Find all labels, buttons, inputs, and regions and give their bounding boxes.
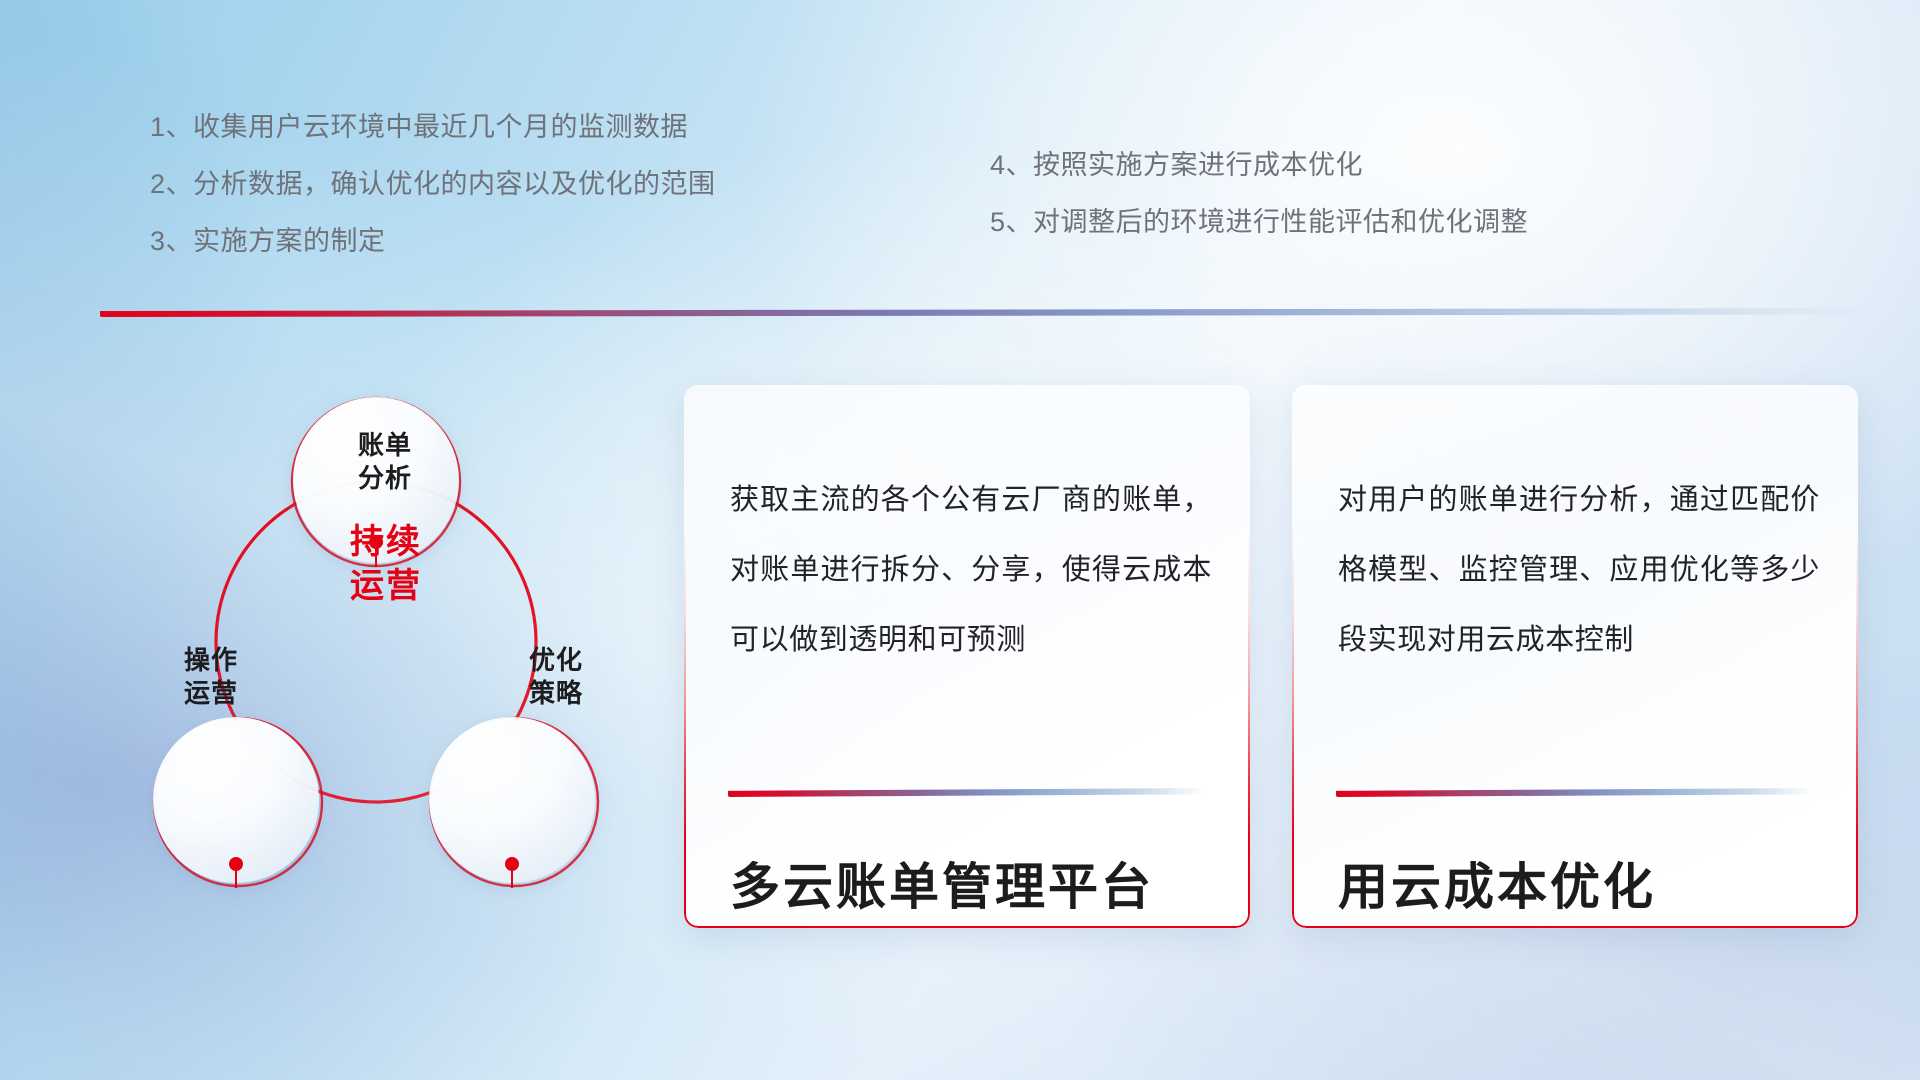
step-item-3: 3、实施方案的制定 — [150, 228, 716, 255]
card-title: 多云账单管理平台 — [730, 847, 1154, 919]
card-cloud-cost-optimization[interactable]: 对用户的账单进行分析，通过匹配价格模型、监控管理、应用优化等多少段实现对用云成本… — [1292, 385, 1858, 928]
diagram-dot-bottom-left — [229, 857, 243, 871]
diagram-center-label-line1: 持续 — [293, 520, 479, 564]
diagram-label-bottom-right-line2: 策略 — [486, 677, 626, 710]
card-body-text: 获取主流的各个公有云厂商的账单，对账单进行拆分、分享，使得云成本可以做到透明和可… — [730, 465, 1212, 676]
diagram-label-bottom-right-line1: 优化 — [486, 644, 626, 677]
step-item-1: 1、收集用户云环境中最近几个月的监测数据 — [150, 114, 716, 141]
diagram-label-bottom-left-line1: 操作 — [141, 644, 281, 677]
diagram-label-top: 账单 分析 — [315, 429, 455, 496]
diagram-dot-bottom-right — [505, 857, 519, 871]
step-item-5: 5、对调整后的环境进行性能评估和优化调整 — [990, 209, 1528, 236]
diagram-center-label-line2: 运营 — [293, 564, 479, 608]
diagram-label-top-line2: 分析 — [315, 462, 455, 495]
card-accent-rule — [728, 788, 1206, 797]
continuous-operation-diagram: 账单 分析 操作 运营 优化 策略 持续 运营 — [96, 352, 656, 932]
card-title: 用云成本优化 — [1338, 847, 1656, 919]
step-list-left: 1、收集用户云环境中最近几个月的监测数据 2、分析数据，确认优化的内容以及优化的… — [150, 114, 716, 285]
diagram-center-label: 持续 运营 — [293, 520, 479, 608]
diagram-label-bottom-left-line2: 运营 — [141, 677, 281, 710]
card-body-text: 对用户的账单进行分析，通过匹配价格模型、监控管理、应用优化等多少段实现对用云成本… — [1338, 465, 1820, 676]
diagram-label-bottom-right: 优化 策略 — [486, 644, 626, 711]
card-accent-rule — [1336, 788, 1814, 797]
step-list-right: 4、按照实施方案进行成本优化 5、对调整后的环境进行性能评估和优化调整 — [990, 152, 1528, 266]
diagram-label-top-line1: 账单 — [315, 429, 455, 462]
card-multi-cloud-billing[interactable]: 获取主流的各个公有云厂商的账单，对账单进行拆分、分享，使得云成本可以做到透明和可… — [684, 385, 1250, 928]
diagram-label-bottom-left: 操作 运营 — [141, 644, 281, 711]
step-item-2: 2、分析数据，确认优化的内容以及优化的范围 — [150, 171, 716, 198]
step-item-4: 4、按照实施方案进行成本优化 — [990, 152, 1528, 179]
